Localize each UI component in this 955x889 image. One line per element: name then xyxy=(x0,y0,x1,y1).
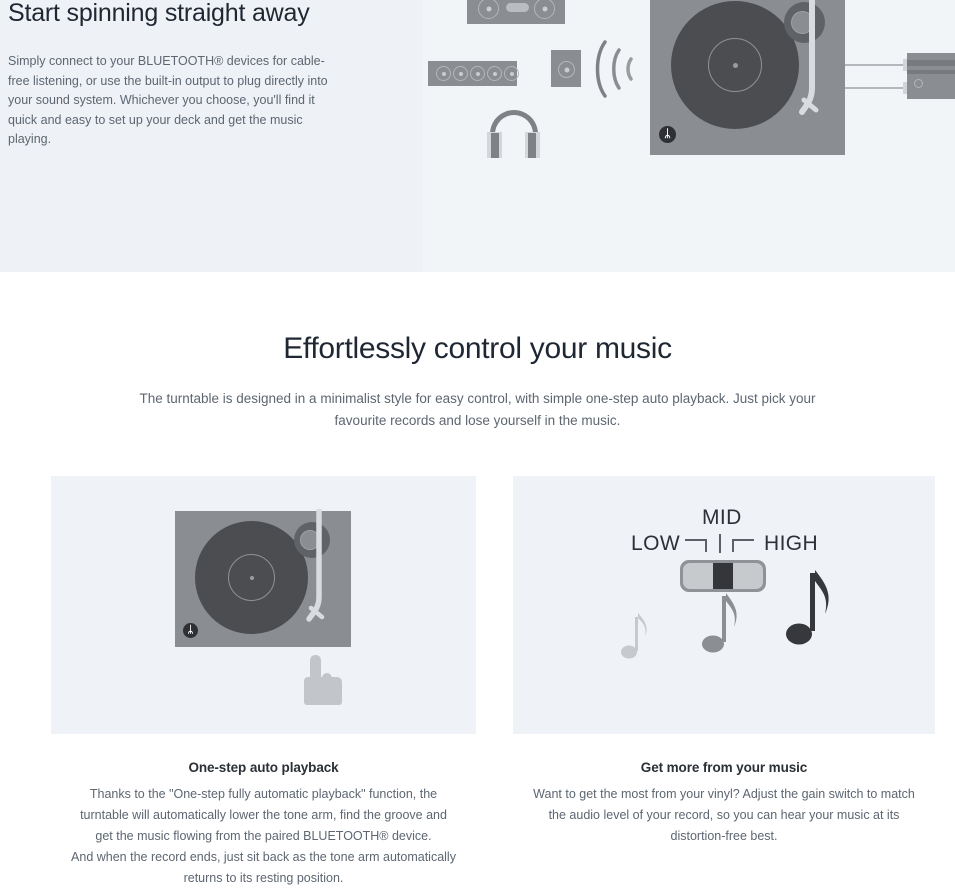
card-get-more-from-your-music: LOW MID HIGH xyxy=(513,476,935,734)
section-title: Effortlessly control your music xyxy=(0,332,955,366)
speaker-pill xyxy=(506,3,529,12)
card-body-line: distortion-free best. xyxy=(513,826,935,847)
switch-label-mid: MID xyxy=(702,506,742,530)
card-body-line: the audio level of your record, so you c… xyxy=(513,805,935,826)
section-subtitle: The turntable is designed in a minimalis… xyxy=(128,388,828,432)
section-subtitle-line-1: The turntable is designed in a minimalis… xyxy=(139,391,785,406)
headphones-icon xyxy=(483,110,545,158)
middle-section: Effortlessly control your music The turn… xyxy=(0,272,955,432)
turntable-illustration-small: ᛦ xyxy=(175,511,351,647)
card-body-line: Want to get the most from your vinyl? Ad… xyxy=(513,784,935,805)
soundbar-icon xyxy=(428,61,517,86)
small-speaker-icon xyxy=(551,50,581,87)
card-body-line: And when the record ends, just sit back … xyxy=(51,847,476,868)
bluetooth-badge-icon: ᛦ xyxy=(183,623,198,638)
switch-tick-high xyxy=(732,539,754,541)
tonearm xyxy=(790,0,830,128)
gain-switch-track[interactable] xyxy=(683,563,763,589)
note-small-icon xyxy=(618,607,658,667)
headphone-cup-left xyxy=(487,132,502,158)
bluetooth-speaker-icon xyxy=(467,0,565,24)
top-section-illustration-panel: ᛦ xyxy=(423,0,955,272)
card-body: Want to get the most from your vinyl? Ad… xyxy=(513,784,935,847)
pointing-hand-icon xyxy=(304,655,348,705)
caption-one-step-auto-playback: One-step auto playback Thanks to the "On… xyxy=(51,760,476,889)
soundbar-driver xyxy=(504,66,519,81)
switch-tick-mid xyxy=(719,534,721,553)
soundbar-driver xyxy=(487,66,502,81)
speaker-knob-left xyxy=(478,0,499,19)
turntable-illustration: ᛦ xyxy=(650,0,845,155)
small-speaker-driver xyxy=(558,61,575,78)
top-section-paragraph: Simply connect to your BLUETOOTH® device… xyxy=(8,52,346,150)
card-body-line: Thanks to the "One-step fully automatic … xyxy=(51,784,476,805)
speaker-knob-right xyxy=(534,0,555,19)
top-section-copy: Start spinning straight away Simply conn… xyxy=(8,0,378,150)
soundbar-driver xyxy=(470,66,485,81)
card-body-line: get the music flowing from the paired BL… xyxy=(51,826,476,847)
card-body: Thanks to the "One-step fully automatic … xyxy=(51,784,476,889)
gain-switch-knob[interactable] xyxy=(713,563,733,589)
caption-get-more-from-your-music: Get more from your music Want to get the… xyxy=(513,760,935,847)
record-spindle xyxy=(733,63,738,68)
wireless-waves-icon xyxy=(595,38,647,100)
tonearm xyxy=(299,509,339,634)
amplifier-icon xyxy=(907,53,955,99)
note-medium-icon xyxy=(698,587,753,667)
card-title: Get more from your music xyxy=(513,760,935,775)
soundbar-driver xyxy=(453,66,468,81)
switch-tick-low-stem xyxy=(705,539,707,552)
headphone-cup-right xyxy=(525,132,540,158)
note-large-icon xyxy=(781,565,846,665)
switch-tick-low xyxy=(685,539,707,541)
amplifier-knob xyxy=(914,79,923,88)
card-body-line: returns to its resting position. xyxy=(51,868,476,889)
bluetooth-badge-icon: ᛦ xyxy=(659,126,676,143)
card-title: One-step auto playback xyxy=(51,760,476,775)
record-spindle xyxy=(250,576,254,580)
switch-label-high: HIGH xyxy=(764,532,818,556)
soundbar-driver xyxy=(436,66,451,81)
page-title: Start spinning straight away xyxy=(8,0,378,30)
switch-label-low: LOW xyxy=(631,532,680,556)
card-one-step-auto-playback: ᛦ xyxy=(51,476,476,734)
card-body-line: turntable will automatically lower the t… xyxy=(51,805,476,826)
